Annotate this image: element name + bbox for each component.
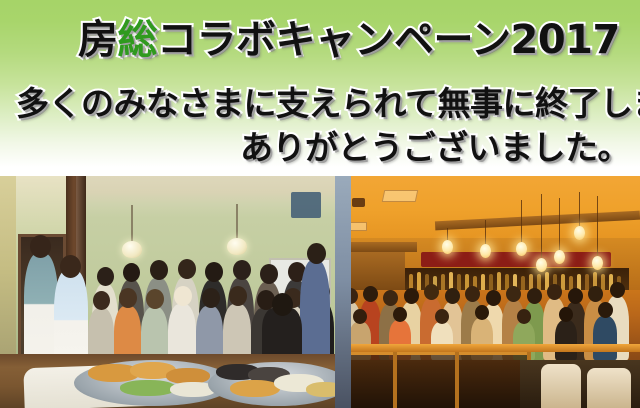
person-head <box>146 289 164 309</box>
photo-group-restaurant <box>335 176 640 408</box>
person-head <box>178 259 196 279</box>
balcony-rail <box>335 344 640 352</box>
food-item <box>230 380 280 397</box>
banner-subtitle-line-1: 多くのみなさまに支えられて無事に終了しました。 <box>16 84 640 124</box>
dining-chair <box>541 364 581 408</box>
light-bulb <box>480 244 491 258</box>
case-post <box>393 352 397 408</box>
person-head <box>97 267 114 286</box>
person-head <box>307 243 326 264</box>
person-head <box>233 260 251 280</box>
person <box>555 320 577 360</box>
person-head <box>229 286 247 306</box>
light-bulb <box>442 240 453 254</box>
campaign-banner: 房総コラボキャンペーン2017 多くのみなさまに支えられて無事に終了しました。 … <box>0 0 640 408</box>
pendant-wire <box>559 198 560 252</box>
person-head <box>445 288 460 304</box>
person-head <box>393 307 407 322</box>
person-head <box>475 305 489 320</box>
person-head <box>30 235 51 258</box>
light-bulb <box>574 226 585 240</box>
pendant-wire <box>485 220 486 246</box>
left-blue-panel <box>335 176 351 408</box>
person-head <box>383 290 398 306</box>
wood-beam <box>343 252 405 290</box>
person-head <box>93 291 110 310</box>
photo-strip <box>0 176 640 408</box>
restaurant-sign <box>421 252 611 267</box>
light-bulb <box>536 258 547 272</box>
pendant-wire <box>541 194 542 260</box>
person-head <box>150 260 168 280</box>
light-bulb <box>516 242 527 256</box>
person <box>593 316 617 360</box>
ceiling-vent <box>382 190 419 202</box>
person-head <box>404 288 419 304</box>
person-head <box>517 309 531 324</box>
food-item <box>120 380 176 396</box>
banner-title: 房総コラボキャンペーン2017 <box>78 17 620 63</box>
banner-subtitle-line-2: ありがとうございました。 <box>240 128 630 168</box>
title-highlight-char: 総 <box>118 17 158 63</box>
person-head <box>547 284 562 300</box>
dining-chair <box>587 368 631 408</box>
person-head <box>424 284 439 300</box>
header-inner: 房総コラボキャンペーン2017 多くのみなさまに支えられて無事に終了しました。 … <box>0 0 640 176</box>
person-head <box>435 309 449 324</box>
case-post <box>455 352 459 408</box>
person-head <box>260 264 278 284</box>
person-head <box>205 262 223 282</box>
person-head <box>202 288 220 308</box>
ceiling-projector <box>352 198 365 207</box>
person-head <box>568 288 583 304</box>
person-head <box>60 255 81 278</box>
person-head <box>272 293 293 316</box>
person-head <box>174 286 192 306</box>
person-head <box>465 286 480 302</box>
light-bulb <box>554 250 565 264</box>
wall-notice-board <box>291 192 321 218</box>
person-head <box>123 263 140 282</box>
title-suffix: コラボキャンペーン2017 <box>157 17 620 63</box>
person-head <box>363 286 378 302</box>
pendant-wire <box>579 192 580 228</box>
person-head <box>119 288 137 308</box>
person-head <box>527 288 542 304</box>
banner-header: 房総コラボキャンペーン2017 多くのみなさまに支えられて無事に終了しました。 … <box>0 0 640 176</box>
person-head <box>598 302 613 318</box>
pendant-wire <box>597 196 598 258</box>
pendant-wire <box>521 200 522 244</box>
display-case <box>335 352 531 408</box>
person-head <box>486 290 501 306</box>
person-head <box>559 307 573 322</box>
person-head <box>506 286 521 302</box>
light-bulb <box>592 256 603 270</box>
food-platter-right <box>208 362 335 406</box>
person-head <box>588 286 603 302</box>
food-item <box>306 382 335 397</box>
person-head <box>353 309 367 324</box>
title-prefix: 房 <box>78 17 118 63</box>
person-head <box>610 282 625 298</box>
photo-group-room <box>0 176 335 408</box>
